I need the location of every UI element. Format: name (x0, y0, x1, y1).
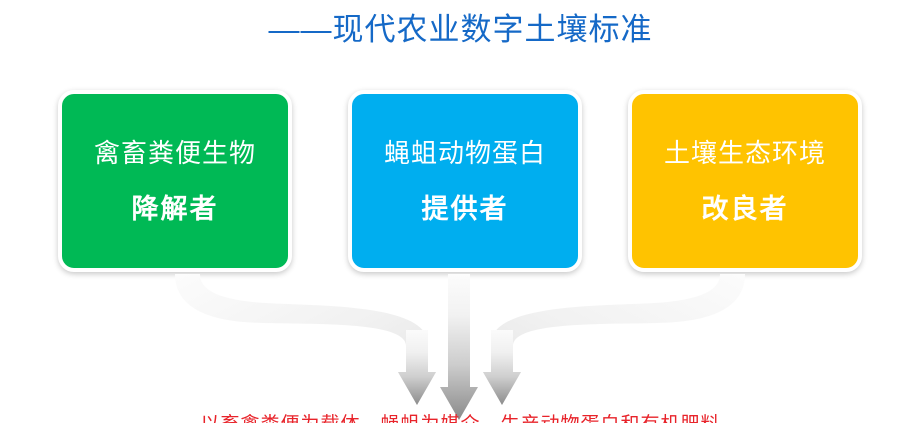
arrow-from-green-card (175, 274, 436, 405)
arrow-from-blue-card (440, 274, 478, 420)
card-poultry-manure-top-label: 禽畜粪便生物 (94, 136, 256, 170)
card-soil-ecology[interactable]: 土壤生态环境 改良者 (628, 90, 862, 272)
card-poultry-manure-bottom-label: 降解者 (132, 192, 219, 226)
page-title: ——现代农业数字土壤标准 (0, 8, 921, 52)
footer-caption: 以畜禽粪便为载体，蝇蛆为媒介，生产动物蛋白和有机肥料 (0, 412, 921, 423)
card-maggot-protein-bottom-label: 提供者 (422, 192, 509, 226)
card-soil-ecology-top-label: 土壤生态环境 (664, 136, 826, 170)
slide-canvas: ——现代农业数字土壤标准 禽畜粪便生物 降解者 蝇蛆动物蛋白 提供者 土壤生态环… (0, 0, 921, 423)
card-maggot-protein-top-label: 蝇蛆动物蛋白 (384, 136, 546, 170)
card-poultry-manure[interactable]: 禽畜粪便生物 降解者 (58, 90, 292, 272)
card-soil-ecology-bottom-label: 改良者 (702, 192, 789, 226)
arrow-from-yellow-card (483, 274, 745, 405)
card-maggot-protein[interactable]: 蝇蛆动物蛋白 提供者 (348, 90, 582, 272)
